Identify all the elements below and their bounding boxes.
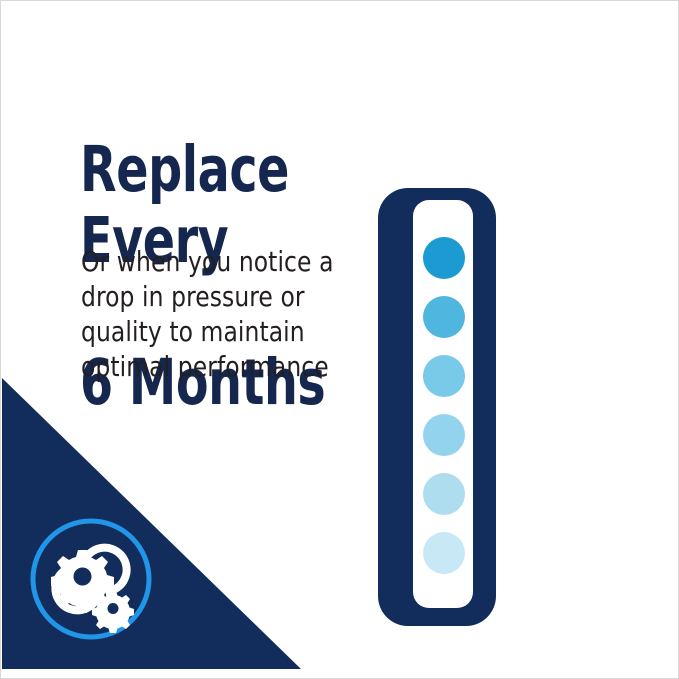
subtitle-line-2: drop in pressure or [81, 279, 351, 314]
filter-life-dot-4 [423, 414, 465, 456]
subtitle-line-1: Or when you notice a [81, 244, 351, 279]
filter-life-dot-6 [423, 532, 465, 574]
subtitle-text: Or when you notice a drop in pressure or… [81, 244, 351, 384]
subtitle-line-4: optimal performance [81, 349, 351, 384]
filter-life-dot-5 [423, 473, 465, 515]
filter-life-dot-3 [423, 355, 465, 397]
infographic-canvas: Replace Every 6 Months Or when you notic… [0, 0, 679, 679]
filter-life-dot-2 [423, 296, 465, 338]
subtitle-line-3: quality to maintain [81, 314, 351, 349]
water-filter-cartridge [373, 183, 501, 631]
small-gear [92, 591, 134, 633]
gears-refresh-cycle-icon [51, 548, 134, 633]
filter-life-dot-1 [423, 237, 465, 279]
replacement-cycle-badge [27, 515, 155, 643]
